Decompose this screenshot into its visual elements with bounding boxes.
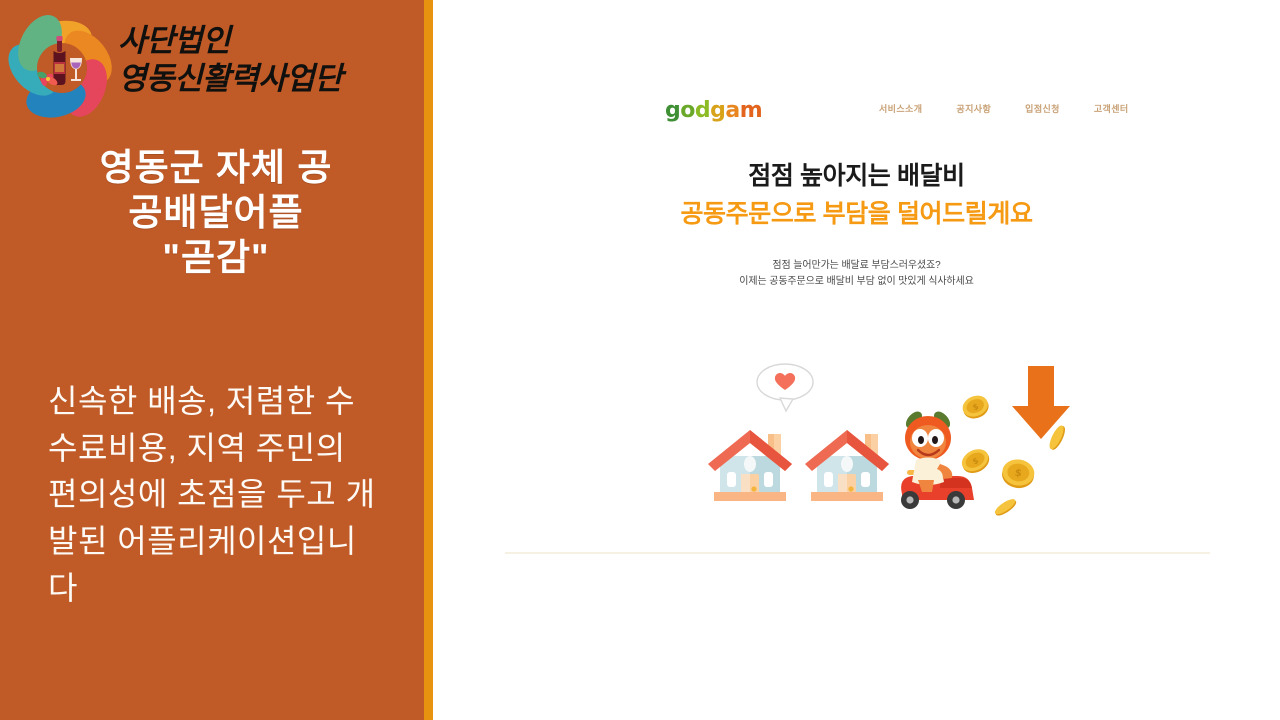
slide-canvas: 사단법인 영동신활력사업단 영동군 자체 공 공배달어플 "곧감" 신속한 배송… (0, 0, 1280, 720)
website-preview: godgam 서비스소개 공지사항 입점신청 고객센터 점점 높아지는 배달비 … (433, 0, 1280, 720)
hero-title-secondary: 공동주문으로 부담을 덜어드릴게요 (433, 198, 1280, 230)
app-description: 신속한 배송, 저렴한 수수료비용, 지역 주민의 편의성에 초점을 두고 개발… (48, 378, 378, 612)
app-title: 영동군 자체 공 공배달어플 "곧감" (16, 145, 416, 280)
hero-illustration: $ $ $ (688, 360, 1078, 540)
godgam-brand-logo[interactable]: godgam (665, 100, 762, 122)
nav-item-customer-center[interactable]: 고객센터 (1094, 102, 1129, 115)
section-divider (505, 552, 1210, 554)
accent-divider-stripe (424, 0, 433, 720)
hero-section: 점점 높아지는 배달비 공동주문으로 부담을 덜어드릴게요 점점 늘어만가는 배… (433, 160, 1280, 290)
hero-subtitle: 점점 늘어만가는 배달료 부담스러우셨죠? 이제는 공동주문으로 배달비 부담 … (433, 258, 1280, 290)
house-icon (708, 430, 792, 501)
nav-item-notice[interactable]: 공지사항 (956, 102, 991, 115)
nav-item-store-application[interactable]: 입점신청 (1025, 102, 1060, 115)
heart-speech-bubble-icon (757, 364, 813, 411)
nav-item-service-intro[interactable]: 서비스소개 (879, 102, 922, 115)
house-icon (805, 430, 889, 501)
organization-title: 사단법인 영동신활력사업단 (118, 22, 418, 98)
site-navigation: 서비스소개 공지사항 입점신청 고객센터 (879, 102, 1129, 115)
left-info-panel: 사단법인 영동신활력사업단 영동군 자체 공 공배달어플 "곧감" 신속한 배송… (0, 0, 424, 720)
hero-title-primary: 점점 높아지는 배달비 (433, 160, 1280, 192)
wine-bottle-flower-logo-icon (8, 12, 116, 120)
